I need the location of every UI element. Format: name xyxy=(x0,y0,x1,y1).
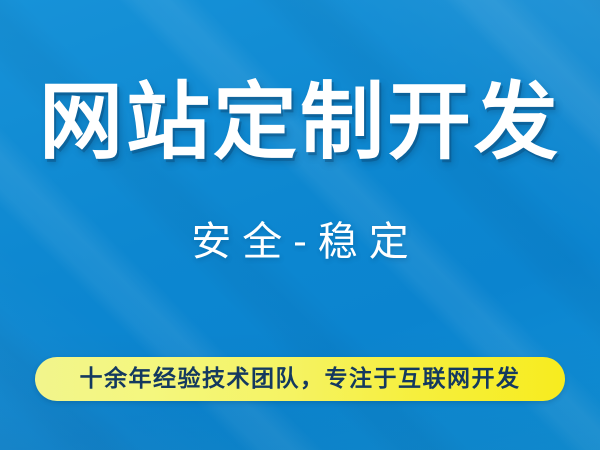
promo-banner: 网站定制开发 安全-稳定 十余年经验技术团队，专注于互联网开发 xyxy=(0,0,600,450)
tagline-pill: 十余年经验技术团队，专注于互联网开发 xyxy=(35,357,565,401)
banner-content: 网站定制开发 安全-稳定 十余年经验技术团队，专注于互联网开发 xyxy=(0,0,600,450)
subtitle-text: 安全-稳定 xyxy=(0,216,600,268)
tagline-text: 十余年经验技术团队，专注于互联网开发 xyxy=(80,366,521,392)
headline-title: 网站定制开发 xyxy=(0,76,600,168)
